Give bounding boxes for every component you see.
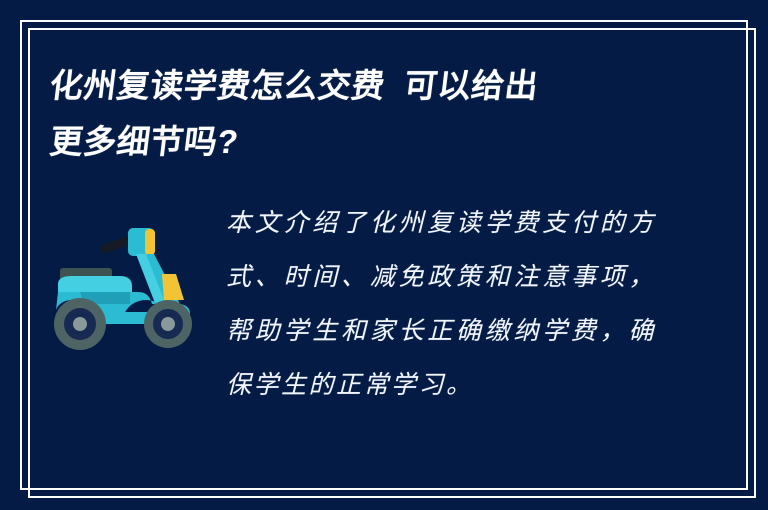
article-cover-card: 化州复读学费怎么交费 可以给出 更多细节吗? — [0, 0, 768, 510]
scooter-front-hub — [161, 317, 175, 331]
scooter-front-indicator — [162, 274, 184, 300]
content-row: 本文介绍了化州复读学费支付的方式、时间、减免政策和注意事项，帮助学生和家长正确缴… — [50, 196, 710, 412]
scooter-rear-hub — [73, 317, 87, 331]
title-line-2: 更多细节吗? — [47, 114, 654, 170]
scooter-headlight-lens — [145, 229, 155, 255]
page-title: 化州复读学费怎么交费 可以给出 更多细节吗? — [50, 58, 650, 170]
summary-text: 本文介绍了化州复读学费支付的方式、时间、减免政策和注意事项，帮助学生和家长正确缴… — [220, 196, 656, 412]
scooter-seat — [58, 276, 132, 292]
title-line-1: 化州复读学费怎么交费 可以给出 — [47, 58, 654, 114]
illustration-container — [50, 196, 220, 362]
scooter-icon — [50, 212, 210, 362]
